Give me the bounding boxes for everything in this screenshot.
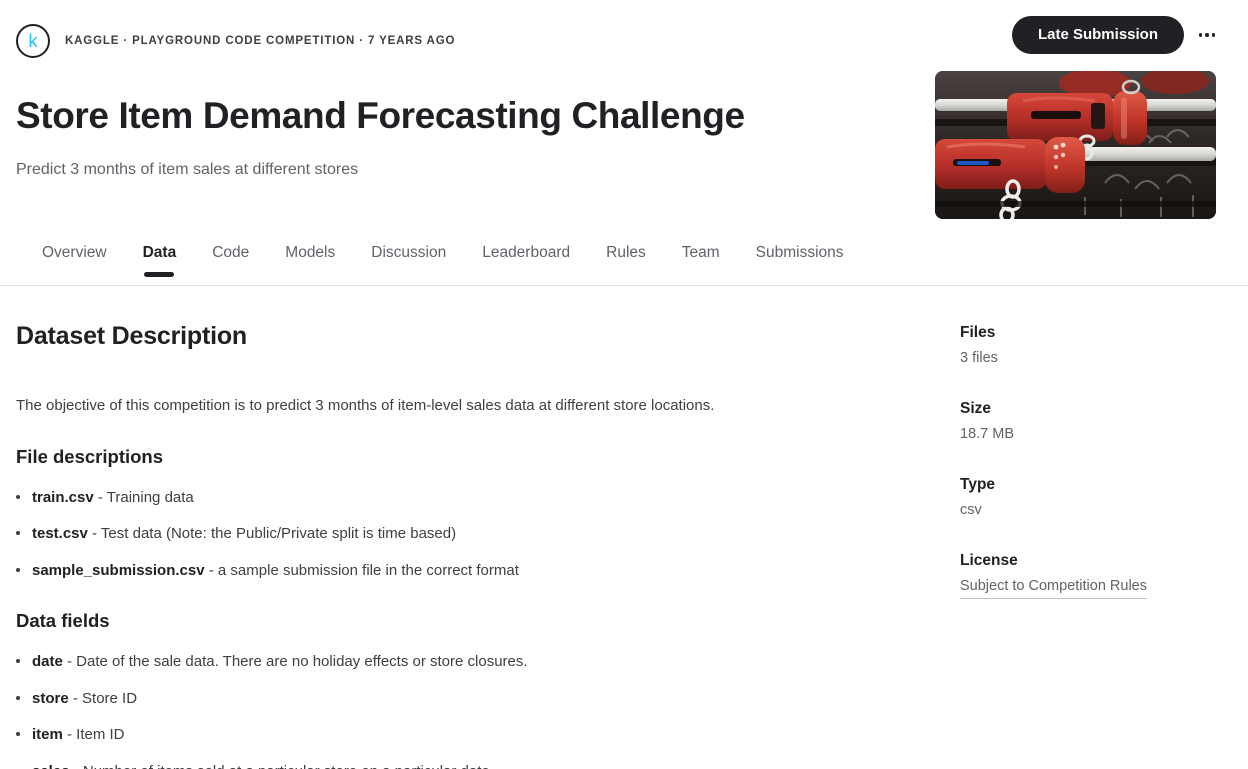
list-item: train.csv - Training data — [16, 487, 936, 509]
files-label: Files — [960, 322, 1224, 344]
field-name: date — [32, 653, 63, 670]
svg-text:k: k — [29, 31, 39, 51]
tab-data[interactable]: Data — [125, 243, 195, 277]
tab-submissions[interactable]: Submissions — [738, 243, 862, 277]
page-header: k KAGGLE · PLAYGROUND CODE COMPETITION ·… — [0, 0, 1248, 66]
meta-type: Type csv — [960, 474, 1224, 520]
tab-overview[interactable]: Overview — [24, 243, 125, 277]
late-submission-button[interactable]: Late Submission — [1012, 16, 1184, 54]
field-name: store — [32, 690, 69, 707]
dataset-metadata-sidebar: Files 3 files Size 18.7 MB Type csv Lice… — [960, 286, 1248, 769]
tab-discussion[interactable]: Discussion — [353, 243, 464, 277]
dot — [1199, 33, 1203, 37]
list-item: test.csv - Test data (Note: the Public/P… — [16, 523, 936, 545]
competition-page: k KAGGLE · PLAYGROUND CODE COMPETITION ·… — [0, 0, 1248, 769]
page-title: Store Item Demand Forecasting Challenge — [16, 94, 884, 138]
list-item: sales - Number of items sold at a partic… — [16, 761, 936, 769]
file-name: sample_submission.csv — [32, 562, 205, 579]
file-descriptions-heading: File descriptions — [16, 446, 936, 468]
breadcrumb[interactable]: KAGGLE · PLAYGROUND CODE COMPETITION · 7… — [65, 35, 455, 47]
tab-team[interactable]: Team — [664, 243, 738, 277]
file-desc: - Test data (Note: the Public/Private sp… — [88, 525, 456, 542]
competition-hero-image — [935, 71, 1216, 219]
competition-tabs: Overview Data Code Models Discussion Lea… — [0, 243, 1248, 286]
list-item: store - Store ID — [16, 688, 936, 710]
dataset-description-content: Dataset Description The objective of thi… — [0, 286, 960, 769]
page-subtitle: Predict 3 months of item sales at differ… — [16, 159, 884, 181]
list-item: date - Date of the sale data. There are … — [16, 651, 936, 673]
file-desc: - Training data — [94, 489, 194, 506]
dot — [1212, 33, 1216, 37]
file-name: train.csv — [32, 489, 94, 506]
field-desc: - Item ID — [63, 726, 125, 743]
field-desc: - Store ID — [69, 690, 137, 707]
size-value: 18.7 MB — [960, 424, 1224, 444]
meta-files: Files 3 files — [960, 322, 1224, 368]
files-value: 3 files — [960, 348, 1224, 368]
file-descriptions-list: train.csv - Training data test.csv - Tes… — [16, 487, 936, 582]
kaggle-logo-icon[interactable]: k — [16, 24, 50, 58]
page-body: Dataset Description The objective of thi… — [0, 286, 1248, 769]
meta-size: Size 18.7 MB — [960, 398, 1224, 444]
meta-license: License Subject to Competition Rules — [960, 550, 1224, 599]
more-options-icon[interactable] — [1190, 18, 1224, 52]
data-fields-list: date - Date of the sale data. There are … — [16, 651, 936, 769]
license-link[interactable]: Subject to Competition Rules — [960, 576, 1147, 600]
header-actions: Late Submission — [1012, 16, 1224, 54]
tab-models[interactable]: Models — [267, 243, 353, 277]
field-name: sales — [32, 763, 70, 769]
data-fields-heading: Data fields — [16, 610, 936, 632]
tab-code[interactable]: Code — [194, 243, 267, 277]
dot — [1205, 33, 1209, 37]
list-item: item - Item ID — [16, 724, 936, 746]
list-item: sample_submission.csv - a sample submiss… — [16, 560, 936, 582]
file-desc: - a sample submission file in the correc… — [205, 562, 519, 579]
field-desc: - Number of items sold at a particular s… — [70, 763, 494, 769]
tab-list: Overview Data Code Models Discussion Lea… — [0, 243, 1248, 277]
section-title: Dataset Description — [16, 322, 936, 351]
title-block: Store Item Demand Forecasting Challenge … — [0, 66, 900, 181]
size-label: Size — [960, 398, 1224, 420]
tab-leaderboard[interactable]: Leaderboard — [464, 243, 588, 277]
tab-rules[interactable]: Rules — [588, 243, 664, 277]
field-name: item — [32, 726, 63, 743]
file-name: test.csv — [32, 525, 88, 542]
type-label: Type — [960, 474, 1224, 496]
type-value: csv — [960, 500, 1224, 520]
license-label: License — [960, 550, 1224, 572]
intro-paragraph: The objective of this competition is to … — [16, 395, 936, 418]
field-desc: - Date of the sale data. There are no ho… — [63, 653, 528, 670]
